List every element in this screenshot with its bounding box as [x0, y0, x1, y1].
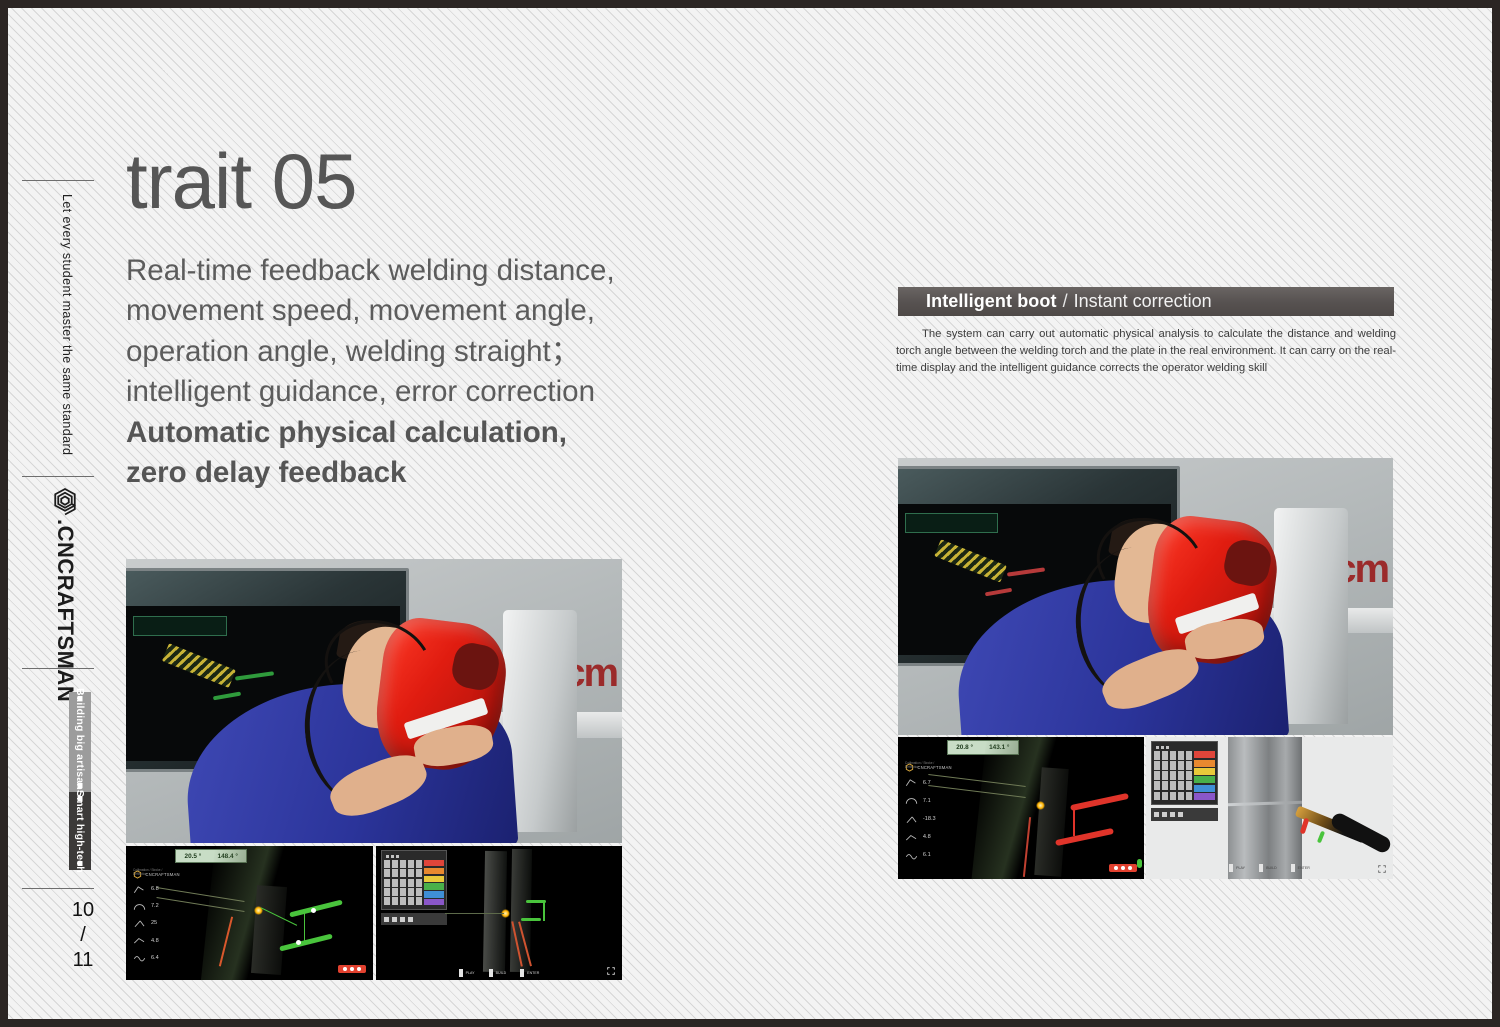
tag-building-big-artisans: Building big artisans [69, 692, 91, 792]
record-button[interactable] [338, 965, 366, 973]
palette-dot-icon [391, 855, 394, 858]
toolbar-icon [384, 917, 389, 922]
palette-toolbar[interactable] [1151, 808, 1218, 821]
ui-panel-tracking-left: CNCRAFTSMAN 20.5 ° 148.4 ° Collimation /… [126, 846, 373, 980]
metal-pipe [1228, 737, 1302, 879]
tracking-metric-row: 25 [131, 915, 175, 932]
tracking-metric-row: 6.7 [903, 774, 947, 792]
scene-tracker-dots [162, 643, 235, 687]
palette-dot-icon [1161, 746, 1164, 749]
build-icon [489, 969, 493, 977]
arc-gauge-icon [905, 795, 918, 806]
brochure-page: Let every student master the same standa… [8, 8, 1492, 1019]
welding-scene: cm [126, 559, 622, 843]
palette-guide-line [445, 913, 504, 914]
ui-panel-palette-left: PLAY BUILD ENTER [376, 846, 622, 980]
palette-green-connector [543, 900, 545, 921]
right-header-separator: / [1063, 291, 1068, 312]
photo-welder-main-right: cm [898, 458, 1393, 735]
toolbar-icon [1178, 812, 1183, 817]
lead-line-1: Real-time feedback welding distance, [126, 251, 704, 291]
palette-green-marker-bottom [521, 918, 541, 921]
palette-grid [384, 860, 444, 905]
footer-label: ENTER [1298, 866, 1310, 870]
palette-ui: PLAY BUILD ENTER [376, 846, 622, 980]
toolbar-icon [400, 917, 405, 922]
left-rail: Let every student master the same standa… [22, 8, 108, 1019]
footer-item-enter[interactable]: ENTER [520, 969, 539, 977]
footer-label: ENTER [527, 971, 539, 975]
palette-swatch-grid [384, 860, 422, 905]
right-header-bar: Intelligent boot / Instant correction [898, 287, 1394, 316]
enter-icon [1291, 864, 1295, 872]
scene-red-marker-1 [1007, 568, 1046, 577]
rail-divider-4 [22, 888, 94, 889]
tracking-metric-row: 6.8 [131, 881, 175, 898]
scene-hud-readout [905, 513, 998, 533]
tracking-green-corner-marker [1137, 859, 1142, 868]
palette-plate-right [510, 849, 532, 973]
scene-red-marker-2 [985, 588, 1013, 597]
palette-dot-icon [1166, 746, 1169, 749]
record-dot-icon [357, 967, 361, 971]
tracking-metric-value: 4.8 [923, 834, 931, 840]
lead-strong-1: Automatic physical calculation, [126, 413, 704, 453]
tracking-metric-row: 4.8 [903, 828, 947, 846]
tracking-metric-row: 7.2 [131, 898, 175, 915]
tracking-metric-row: 6.4 [131, 949, 175, 966]
lead-line-2: movement speed, movement angle, [126, 291, 704, 331]
distance-icon [133, 935, 146, 946]
tracking-readout-value-1: 20.8 ° [956, 744, 973, 751]
angle-gauge-icon [133, 884, 146, 895]
ui-panel-palette-right: PLAY BUILD ENTER [1146, 737, 1393, 879]
build-icon [1259, 864, 1263, 872]
tracking-metric-value: 6.7 [923, 780, 931, 786]
record-dot-icon [350, 967, 354, 971]
toolbar-icon [1162, 812, 1167, 817]
palette-dot-icon [396, 855, 399, 858]
record-dot-icon [1114, 866, 1118, 870]
palette-toolbar[interactable] [381, 913, 447, 925]
rail-divider-1 [22, 180, 94, 181]
color-palette-panel[interactable] [381, 850, 447, 910]
palette-dot-icon [386, 855, 389, 858]
right-header-normal: Instant correction [1074, 291, 1212, 312]
toolbar-icon [392, 917, 397, 922]
cncraftsman-spiral-logo [50, 486, 80, 516]
footer-item-enter[interactable]: ENTER [1291, 864, 1310, 872]
footer-item-play[interactable]: PLAY [459, 969, 475, 977]
play-icon [459, 969, 463, 977]
tracking-readout-value-1: 20.5 ° [185, 853, 202, 860]
tracking-metric-row: 7.1 [903, 792, 947, 810]
lead-paragraph: Real-time feedback welding distance, mov… [126, 251, 704, 493]
rail-divider-2 [22, 476, 94, 477]
brand-name: .CNCRAFTSMAN [52, 519, 78, 702]
scene-green-marker-2 [213, 692, 241, 701]
page-total: 11 [60, 948, 106, 973]
scene-tracker-dots [934, 540, 1007, 584]
ui-panel-tracking-right: CNCRAFTSMAN 20.8 ° 143.1 ° Collimation /… [898, 737, 1144, 879]
page-separator: / [60, 923, 106, 948]
play-icon [1229, 864, 1233, 872]
toolbar-icon [408, 917, 413, 922]
lead-line-4: intelligent guidance, error correction [126, 372, 704, 412]
lead-strong-2: zero delay feedback [126, 453, 704, 493]
record-button[interactable] [1109, 864, 1137, 872]
tracking-metric-row: -18.3 [903, 810, 947, 828]
palette-titlebar [384, 853, 444, 860]
tracking-metrics-header: Collimation / Stroke / Deflection [905, 761, 947, 769]
tracking-metric-value: 6.4 [151, 955, 159, 961]
color-palette-panel[interactable] [1151, 741, 1218, 805]
wave-icon [905, 850, 918, 861]
distance-icon [905, 832, 918, 843]
slope-icon [133, 918, 146, 929]
angle-gauge-icon [905, 777, 918, 788]
palette-color-column [424, 860, 444, 905]
fullscreen-icon[interactable] [1378, 865, 1386, 873]
record-dot-icon [343, 967, 347, 971]
record-dot-icon [1128, 866, 1132, 870]
rail-motto: Let every student master the same standa… [60, 194, 74, 455]
tracking-metrics-sidebar: Collimation / Stroke / Deflection 6.8 7.… [131, 863, 175, 970]
tracking-metrics-header-row: Collimation / Stroke / Deflection [131, 863, 175, 880]
right-header-bold: Intelligent boot [926, 291, 1057, 312]
tracking-node-1 [311, 908, 316, 913]
tag-smart-high-tech: Smart high-tech [69, 792, 91, 870]
tracking-metric-value: 25 [151, 920, 157, 926]
tracking-metric-row: 6.1 [903, 846, 947, 864]
page-title: trait 05 [126, 142, 356, 220]
tracking-ui: CNCRAFTSMAN 20.5 ° 148.4 ° Collimation /… [126, 846, 373, 980]
record-dot-icon [1121, 866, 1125, 870]
right-body-text: The system can carry out automatic physi… [896, 326, 1396, 377]
enter-icon [520, 969, 524, 977]
tracking-metrics-sidebar: Collimation / Stroke / Deflection 6.7 7.… [903, 755, 947, 869]
tracking-metric-value: 7.2 [151, 903, 159, 909]
tracking-plate [1034, 767, 1069, 877]
tracking-metric-row: 4.8 [131, 932, 175, 949]
lead-line-3: operation angle, welding straight； [126, 332, 704, 372]
tracking-metric-value: 6.8 [151, 886, 159, 892]
palette-color-column [1194, 751, 1214, 800]
palette-titlebar [1154, 744, 1215, 751]
page-number: 10 / 11 [60, 898, 106, 973]
wave-icon [133, 952, 146, 963]
fullscreen-icon[interactable] [607, 967, 615, 975]
footer-item-play[interactable]: PLAY [1229, 864, 1245, 872]
photo-welder-main-left: cm [126, 559, 622, 843]
toolbar-icon [1154, 812, 1159, 817]
palette-grid [1154, 751, 1215, 800]
palette-ui: PLAY BUILD ENTER [1146, 737, 1393, 879]
footer-label: PLAY [1236, 866, 1245, 870]
tracking-red-bar-top [1070, 793, 1129, 811]
brand-block: .CNCRAFTSMAN [50, 486, 80, 702]
toolbar-icon [1170, 812, 1175, 817]
tracking-metric-value: 4.8 [151, 938, 159, 944]
arc-gauge-icon [133, 901, 146, 912]
tracking-green-connector [304, 913, 306, 942]
palette-footer-toolbar[interactable]: PLAY BUILD ENTER [1146, 861, 1393, 877]
tracking-arc-spark [1036, 801, 1045, 810]
tracking-metric-value: 7.1 [923, 798, 931, 804]
footer-label: PLAY [466, 971, 475, 975]
palette-dot-icon [1156, 746, 1159, 749]
tracking-metrics-header-row: Collimation / Stroke / Deflection [903, 755, 947, 773]
page-current: 10 [60, 898, 106, 923]
torch-green-marker [1317, 830, 1325, 843]
rail-tag-bars: Building big artisans Smart high-tech [69, 692, 91, 870]
footer-label: BUILD [1266, 866, 1277, 870]
tracking-ui: CNCRAFTSMAN 20.8 ° 143.1 ° Collimation /… [898, 737, 1144, 879]
tracking-metrics-header: Collimation / Stroke / Deflection [133, 868, 175, 876]
slope-icon [905, 814, 918, 825]
footer-item-build[interactable]: BUILD [489, 969, 507, 977]
scene-green-marker-1 [235, 672, 274, 681]
tracking-red-connector [1073, 805, 1075, 836]
tracking-metric-value: -18.3 [923, 816, 936, 822]
footer-label: BUILD [496, 971, 507, 975]
scene-hud-readout [133, 616, 227, 636]
palette-swatch-grid [1154, 751, 1192, 800]
footer-item-build[interactable]: BUILD [1259, 864, 1277, 872]
tracking-metric-value: 6.1 [923, 852, 931, 858]
welding-scene: cm [898, 458, 1393, 735]
palette-footer-toolbar[interactable]: PLAY BUILD ENTER [376, 965, 622, 980]
